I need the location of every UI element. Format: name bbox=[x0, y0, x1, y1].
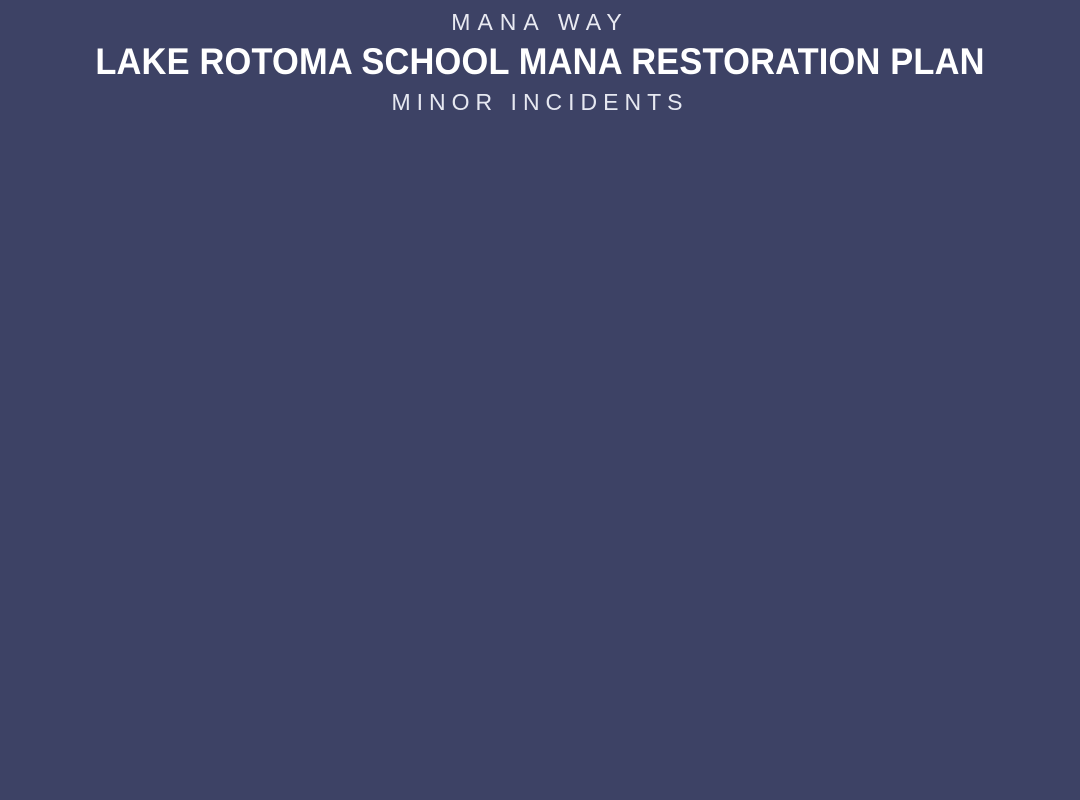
process-steps: Mini chat and record for tracking. Resto… bbox=[0, 0, 1080, 800]
